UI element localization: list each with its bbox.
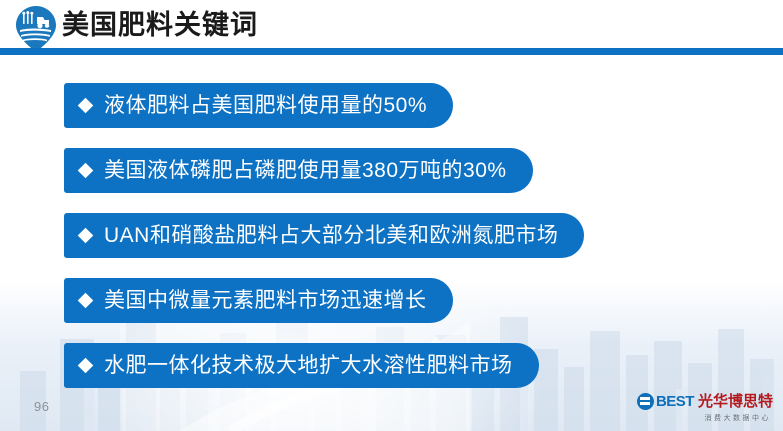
list-item[interactable]: 液体肥料占美国肥料使用量的50% <box>64 83 453 128</box>
list-item-row: UAN和硝酸盐肥料占大部分北美和欧洲氮肥市场 <box>64 213 764 278</box>
diamond-bullet-icon <box>78 293 94 309</box>
best-circle-icon <box>637 393 654 410</box>
bullet-list: 液体肥料占美国肥料使用量的50% 美国液体磷肥占磷肥使用量380万吨的30% U… <box>64 83 764 408</box>
slide: 美国肥料关键词 液体肥料占美国肥料使用量的50% 美国液体磷肥占磷肥使用量380… <box>0 0 783 431</box>
list-item-label: 水肥一体化技术极大地扩大水溶性肥料市场 <box>104 343 513 388</box>
list-item-row: 美国液体磷肥占磷肥使用量380万吨的30% <box>64 148 764 213</box>
brand-subtitle: 消费大数据中心 <box>623 413 773 423</box>
brand-mark: BEST <box>656 393 694 410</box>
list-item[interactable]: 美国液体磷肥占磷肥使用量380万吨的30% <box>64 148 533 193</box>
list-item-label: 美国液体磷肥占磷肥使用量380万吨的30% <box>104 148 507 193</box>
list-item[interactable]: 水肥一体化技术极大地扩大水溶性肥料市场 <box>64 343 539 388</box>
list-item-row: 液体肥料占美国肥料使用量的50% <box>64 83 764 148</box>
diamond-bullet-icon <box>78 98 94 114</box>
list-item[interactable]: 美国中微量元素肥料市场迅速增长 <box>64 278 453 323</box>
list-item[interactable]: UAN和硝酸盐肥料占大部分北美和欧洲氮肥市场 <box>64 213 584 258</box>
brand-name: 光华博思特 <box>698 393 773 410</box>
diamond-bullet-icon <box>78 163 94 179</box>
list-item-label: 液体肥料占美国肥料使用量的50% <box>104 83 427 128</box>
brand-logo: BEST 光华博思特 消费大数据中心 <box>623 391 773 423</box>
slide-header: 美国肥料关键词 <box>0 0 783 56</box>
page-title: 美国肥料关键词 <box>62 8 258 42</box>
list-item-label: 美国中微量元素肥料市场迅速增长 <box>104 278 427 323</box>
diamond-bullet-icon <box>78 228 94 244</box>
brand-logo-row: BEST 光华博思特 <box>623 391 773 411</box>
page-number: 96 <box>34 399 49 414</box>
diamond-bullet-icon <box>78 358 94 374</box>
header-divider <box>0 48 783 55</box>
list-item-label: UAN和硝酸盐肥料占大部分北美和欧洲氮肥市场 <box>104 213 558 258</box>
list-item-row: 美国中微量元素肥料市场迅速增长 <box>64 278 764 343</box>
